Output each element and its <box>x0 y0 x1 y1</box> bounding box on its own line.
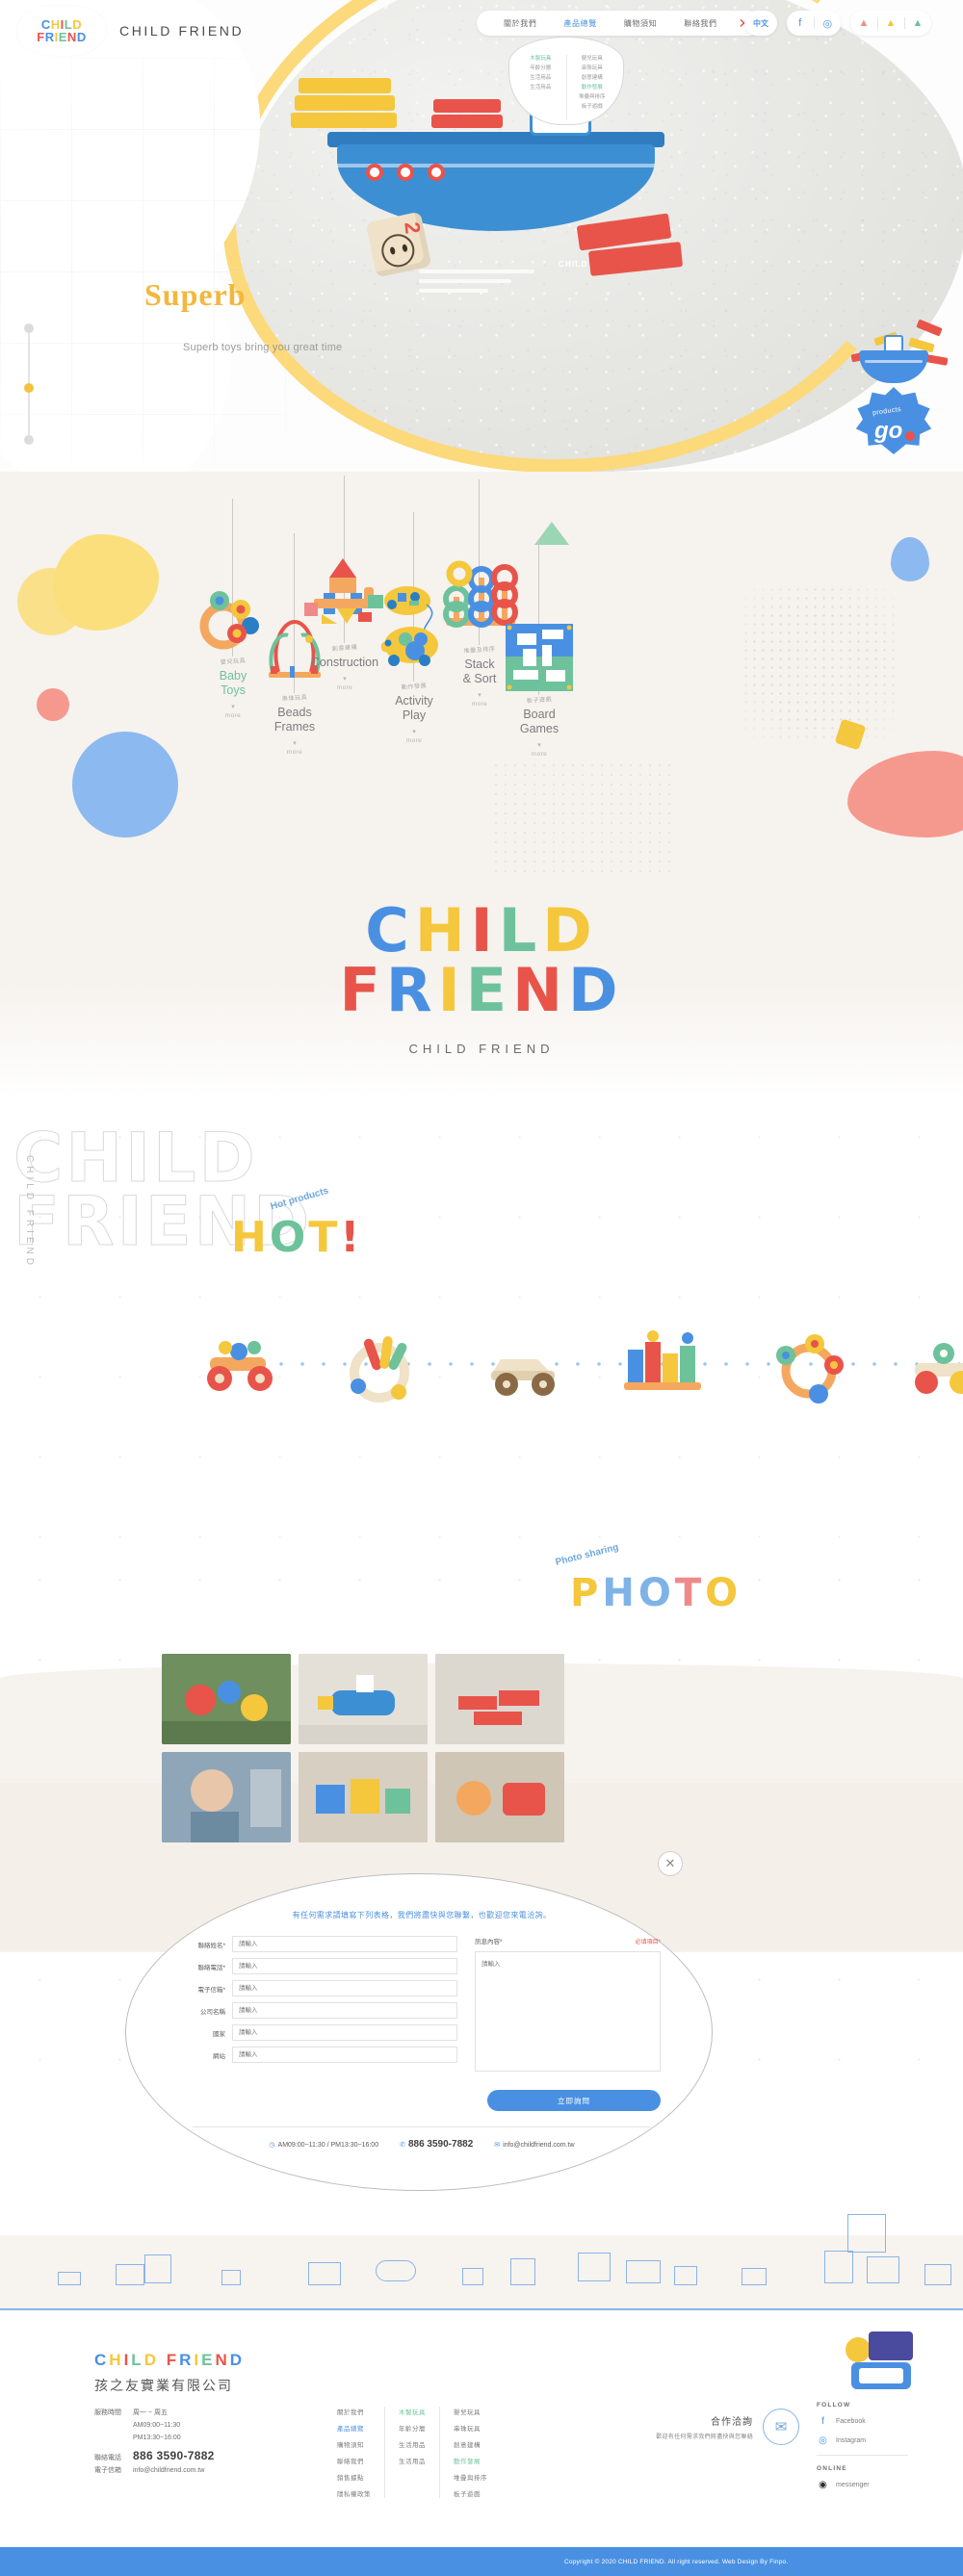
copyright-text: Copyright © 2020 CHILD FRIEND. All right… <box>564 2559 788 2565</box>
category-more-link[interactable]: more <box>237 749 352 756</box>
photo-title-letter: O <box>638 1571 675 1615</box>
category-more-link[interactable]: more <box>481 751 597 758</box>
scroll-dot-3[interactable] <box>24 435 34 445</box>
crate <box>299 78 391 93</box>
nav-item-1[interactable]: 產品總覽 <box>563 18 596 29</box>
service-days: 周一 ~ 周五 <box>133 2409 168 2416</box>
lock-icon: ▲ <box>905 17 931 29</box>
instagram-icon-row[interactable]: ◎Instagram <box>817 2434 932 2447</box>
logo-letter: F <box>37 31 44 43</box>
wordmark-letter: D <box>568 961 623 1020</box>
footer-link-site-2[interactable]: 購物須知 <box>337 2439 371 2449</box>
footer-email[interactable]: info@childfriend.com.tw <box>133 2467 204 2474</box>
coop-text: 歡迎有任何需求我們將盡快與您聯絡 <box>578 2432 753 2440</box>
wordmark-letter: N <box>512 961 568 1020</box>
footer-brand-letter: L <box>131 2351 143 2370</box>
message-label: 訊息內容* <box>475 1936 503 1945</box>
bead-roller[interactable] <box>905 1328 963 1425</box>
category-more-link[interactable]: more <box>356 737 472 744</box>
social-label: messenger <box>836 2482 870 2488</box>
contact-form: 有任何需求請填寫下列表格，我們將盡快與您聯繫，也歡迎您來電洽詢。 聯絡姓名* 聯… <box>143 1887 701 2150</box>
social-label: Instagram <box>836 2437 866 2444</box>
logo-mark[interactable]: CHILD FRIEND <box>17 6 106 56</box>
beaded-teether-ring[interactable] <box>335 1328 431 1425</box>
chevron-down-icon: ▾ <box>356 728 472 735</box>
photo-title-letter: O <box>705 1571 742 1615</box>
hot-title-letter: H <box>231 1213 270 1262</box>
footer-block-illustrations <box>0 2243 963 2310</box>
contact-message-block: 訊息內容* 必填項目* <box>475 1936 661 2076</box>
dropdown-cat-2[interactable]: 創意建構 <box>582 74 603 82</box>
main-nav: 關於我們產品總覽購物須知聯絡我們✕ <box>477 11 761 36</box>
website-input[interactable] <box>232 2047 457 2063</box>
footer-brand-letter: F <box>167 2351 179 2370</box>
decor-blue-circle <box>72 732 178 837</box>
hot-title-letter: ! <box>340 1213 362 1262</box>
footer-brand: CHILD FRIEND 孩之友實業有限公司 <box>94 2351 245 2395</box>
coop-title: 合作洽詢 <box>578 2413 753 2428</box>
boat-waves <box>419 270 534 293</box>
footer-link-cat-3[interactable]: 動作發展 <box>454 2456 487 2465</box>
photo-title: PHOTO <box>570 1571 742 1615</box>
decor-block-15 <box>924 2264 951 2285</box>
contact-info-bar: ◷AM09:00~11:30 / PM13:30~16:00 ✆886 3590… <box>143 2127 701 2150</box>
phone-text: 886 3590-7882 <box>408 2139 473 2150</box>
mail-icon[interactable]: ✉ <box>763 2409 799 2445</box>
badge-go-text: go <box>874 418 902 445</box>
brand-name: CHILD FRIEND <box>119 23 244 39</box>
message-textarea[interactable] <box>475 1951 661 2072</box>
wordmark-letter: D <box>542 901 597 961</box>
messenger-icon-row[interactable]: ◉messenger <box>817 2479 932 2491</box>
instagram-icon: ◎ <box>817 2434 829 2447</box>
photo-red-crates-sand[interactable] <box>435 1654 564 1744</box>
photo-title-letter: H <box>602 1571 638 1615</box>
logo-letter: E <box>59 31 67 43</box>
hero-section: CHILD FRIEND 2 Superb Superb toys bring … <box>0 0 963 472</box>
page-root: CHILD FRIEND 2 Superb Superb toys bring … <box>0 0 963 2576</box>
life-ring <box>428 164 445 181</box>
contact-email-input[interactable] <box>232 1980 457 1996</box>
footer-link-cat-4[interactable]: 堆疊與排序 <box>454 2472 487 2482</box>
facebook-icon-row[interactable]: fFacebook <box>817 2415 932 2428</box>
decor-block-9 <box>867 2256 899 2283</box>
footer-link-site-1[interactable]: 產品總覽 <box>337 2423 371 2433</box>
footer-phone[interactable]: 886 3590-7882 <box>133 2449 215 2462</box>
service-am: AM09:00~11:30 <box>133 2422 180 2429</box>
decor-block-10 <box>58 2272 81 2285</box>
phone-icon: ✆ <box>400 2142 405 2149</box>
decor-red-circle <box>37 688 69 721</box>
hot-title-letter: O <box>270 1213 308 1262</box>
decor-block-7 <box>847 2214 886 2253</box>
close-icon[interactable]: ✕ <box>658 1851 683 1876</box>
country-label: 國家 <box>183 2028 225 2038</box>
decor-block-2 <box>308 2262 341 2285</box>
dropdown-column-category: 嬰兒玩具串珠玩具創意建構動作發展堆疊與排序板子遊戲 <box>566 55 618 120</box>
footer-contact-block: 服務時間周一 ~ 周五 AM09:00~11:30 PM13:30~16:00 … <box>94 2407 215 2477</box>
nav-item-2[interactable]: 購物須知 <box>624 18 657 29</box>
wooden-toy-car[interactable] <box>478 1328 574 1425</box>
photo-child-playing[interactable] <box>162 1752 291 1842</box>
decor-block-1 <box>144 2254 171 2283</box>
logo-group[interactable]: CHILD FRIEND CHILD FRIEND <box>17 6 244 56</box>
facebook-icon: f <box>817 2415 829 2428</box>
category-label-en: BoardGames <box>481 708 597 736</box>
nav-item-0[interactable]: 關於我們 <box>504 18 536 29</box>
dropdown-type-1[interactable]: 年齡分層 <box>530 64 551 72</box>
hours-info: ◷AM09:00~11:30 / PM13:30~16:00 <box>269 2141 378 2149</box>
footer-brand-letter: D <box>144 2351 159 2370</box>
hero-dice: 2 <box>366 212 432 278</box>
crate <box>295 95 395 111</box>
crate <box>291 113 397 128</box>
decor-dot-pattern <box>742 585 896 739</box>
decor-green-triangle <box>534 522 569 545</box>
wooden-car-rattle[interactable] <box>193 1328 289 1425</box>
hours-text: AM09:00~11:30 / PM13:30~16:00 <box>278 2142 379 2149</box>
copyright-bar: Copyright © 2020 CHILD FRIEND. All right… <box>0 2547 963 2576</box>
wordmark-letter: I <box>438 961 466 1020</box>
photo-wooden-toys[interactable] <box>435 1752 564 1842</box>
decor-block-13 <box>510 2258 535 2285</box>
hot-products-rail <box>193 1319 963 1434</box>
dice-number: 2 <box>399 220 425 235</box>
dropdown-cat-1[interactable]: 串珠玩具 <box>582 64 603 72</box>
scroll-dot-2-active[interactable] <box>24 383 34 393</box>
online-links: ◉messenger <box>817 2479 932 2491</box>
footer-link-columns: 關於我們產品總覽購物須知聯絡我們銷售據點隱私權政策 木製玩具年齡分層生活用品生活… <box>324 2407 501 2498</box>
footer-brand-letter: D <box>230 2351 245 2370</box>
dropdown-type-0[interactable]: 木製玩具 <box>530 55 551 63</box>
country-input[interactable] <box>232 2024 457 2041</box>
nav-item-3[interactable]: 聯絡我們 <box>684 18 716 29</box>
footer-link-type-3[interactable]: 生活用品 <box>399 2456 426 2465</box>
photo-title-letter: T <box>675 1571 705 1615</box>
decor-block-4 <box>578 2253 611 2281</box>
life-ring <box>397 164 414 181</box>
website-label: 網站 <box>183 2050 225 2060</box>
stacking-blocks[interactable] <box>620 1328 716 1425</box>
submit-button[interactable]: 立即詢問 <box>487 2090 661 2111</box>
wordmark: CHILD FRIEND CHILD FRIEND <box>0 901 963 1056</box>
dropdown-cat-0[interactable]: 嬰兒玩具 <box>582 55 603 63</box>
footer-link-cat-0[interactable]: 嬰兒玩具 <box>454 2407 487 2416</box>
footer-link-type-2[interactable]: 生活用品 <box>399 2439 426 2449</box>
service-pm: PM13:30~16:00 <box>133 2434 181 2441</box>
photo-title-letter: P <box>570 1571 602 1615</box>
decor-block-6 <box>742 2268 767 2285</box>
dropdown-column-type: 木製玩具年齡分層生活用品生活用品 <box>515 55 566 120</box>
wordmark-line-2: FRIEND <box>0 961 963 1020</box>
dropdown-cat-3[interactable]: 動作發展 <box>582 84 603 91</box>
decor-block-11 <box>221 2270 241 2285</box>
hot-products-section: CHILDFRIEND CHILD FRIEND Hot products HO… <box>0 1097 963 1540</box>
email-info[interactable]: ✉info@childfriend.com.tw <box>494 2141 574 2149</box>
decor-pink-blob <box>847 751 963 837</box>
contact-name-label: 聯絡姓名* <box>183 1940 225 1949</box>
products-go-badge[interactable]: products go <box>846 323 953 454</box>
footer-brand-letter: R <box>179 2351 194 2370</box>
chevron-down-icon: ▾ <box>481 741 597 749</box>
footer-link-site-3[interactable]: 聯絡我們 <box>337 2456 371 2465</box>
follow-links: fFacebook◎Instagram <box>817 2415 932 2447</box>
category-toy-icon <box>481 616 597 693</box>
wordmark-letter: C <box>365 901 415 961</box>
logo-letter: N <box>67 31 77 43</box>
decor-block-14 <box>674 2266 697 2285</box>
contact-email-label: 電子信箱* <box>183 1984 225 1994</box>
badge-dot <box>905 431 915 441</box>
footer-link-cat-2[interactable]: 創意建構 <box>454 2439 487 2449</box>
badge-boat-cabin <box>884 335 903 352</box>
required-note: 必填項目* <box>636 1937 661 1945</box>
footer-link-cat-5[interactable]: 板子遊戲 <box>454 2488 487 2498</box>
crate <box>433 99 501 113</box>
footer-brand-letter: I <box>124 2351 132 2370</box>
hero-title: Superb <box>144 277 247 313</box>
hero-dot-grid <box>0 58 289 462</box>
decor-yellow-circle <box>17 568 85 635</box>
decor-dot-pattern-2 <box>491 760 674 876</box>
footer-link-type-1[interactable]: 年齡分層 <box>399 2423 426 2433</box>
category-item-1[interactable]: 串珠玩具 BeadsFrames ▾ more <box>237 693 352 756</box>
dice-face <box>378 231 417 270</box>
wordmark-line-1: CHILD <box>0 901 963 961</box>
contact-phone-label: 聯絡電話* <box>183 1962 225 1971</box>
chevron-down-icon: ▾ <box>237 739 352 747</box>
wordmark-letter: R <box>386 961 438 1020</box>
footer-column-site: 關於我們產品總覽購物須知聯絡我們銷售據點隱私權政策 <box>324 2407 384 2498</box>
dropdown-cat-5[interactable]: 板子遊戲 <box>582 103 603 111</box>
wordmark-letter: F <box>340 961 386 1020</box>
contact-name-input[interactable] <box>232 1936 457 1952</box>
divider <box>817 2455 908 2456</box>
wordmark-letter: H <box>415 901 471 961</box>
footer-brand-letter: N <box>215 2351 229 2370</box>
footer-column-category: 嬰兒玩具串珠玩具創意建構動作發展堆疊與排序板子遊戲 <box>439 2407 501 2498</box>
photo-grid <box>162 1654 566 1842</box>
service-label: 服務時間 <box>94 2407 133 2419</box>
footer-company-zh: 孩之友實業有限公司 <box>94 2376 245 2395</box>
badge-boat-icon <box>859 350 928 383</box>
footer-brand-letter <box>159 2351 167 2370</box>
ghost-vertical-text: CHILD FRIEND <box>24 1155 35 1269</box>
crate <box>431 115 503 128</box>
footer-social-block: FOLLOW fFacebook◎Instagram ONLINE ◉messe… <box>817 2402 932 2498</box>
hot-title: HOT! <box>231 1213 362 1262</box>
wordmark-subtitle: CHILD FRIEND <box>0 1042 963 1056</box>
life-ring <box>366 164 383 181</box>
category-section: 嬰兒玩具 BabyToys ▾ more 串珠玩具 BeadsFrames ▾ … <box>0 472 963 876</box>
header-user-group: ▲ ▲ ▲ <box>850 11 931 36</box>
footer-brand-letter: E <box>201 2351 215 2370</box>
wordmark-letter: I <box>471 901 499 961</box>
contact-form-note: 有任何需求請填寫下列表格，我們將盡快與您聯繫，也歡迎您來電洽詢。 <box>143 1887 701 1936</box>
cart-icon: ▲ <box>851 17 877 29</box>
brand-wordmark-section: CHILD FRIEND CHILD FRIEND <box>0 876 963 1097</box>
ring-rattle[interactable] <box>763 1328 859 1425</box>
instagram-icon[interactable]: ◎ <box>815 17 842 30</box>
header-social-group: f ◎ <box>787 11 841 36</box>
footer-column-type: 木製玩具年齡分層生活用品生活用品 <box>384 2407 439 2498</box>
mail-icon: ✉ <box>494 2142 500 2149</box>
facebook-icon[interactable]: f <box>787 17 814 29</box>
footer-cooperation-block[interactable]: 合作洽詢 歡迎有任何需求我們將盡快與您聯絡 ✉ <box>578 2409 799 2445</box>
follow-label: FOLLOW <box>817 2402 932 2409</box>
email-label: 電子信箱 <box>94 2464 133 2477</box>
logo-letter: D <box>77 31 87 43</box>
logo-letters-bottom: FRIEND <box>37 31 86 43</box>
company-name-input[interactable] <box>232 2002 457 2019</box>
dropdown-cat-4[interactable]: 堆疊與排序 <box>579 93 606 101</box>
hot-title-letter: T <box>308 1213 340 1262</box>
site-header: CHILD FRIEND CHILD FRIEND 關於我們產品總覽購物須知聯絡… <box>0 0 963 60</box>
wordmark-letter: L <box>499 901 543 961</box>
phone-label: 聯絡電話 <box>94 2452 133 2464</box>
photo-hand-blocks[interactable] <box>299 1752 428 1842</box>
contact-phone-input[interactable] <box>232 1958 457 1974</box>
language-switcher[interactable]: 中文 <box>744 11 777 36</box>
photo-beads-on-grass[interactable] <box>162 1654 291 1744</box>
products-dropdown-menu: 木製玩具年齡分層生活用品生活用品 嬰兒玩具串珠玩具創意建構動作發展堆疊與排序板子… <box>508 37 624 125</box>
decor-block-8 <box>824 2251 853 2283</box>
decor-block-0 <box>116 2264 144 2285</box>
company-name-label: 公司名稱 <box>183 2006 225 2016</box>
clock-icon: ◷ <box>269 2142 274 2149</box>
footer-link-type-0[interactable]: 木製玩具 <box>399 2407 426 2416</box>
footer-link-site-0[interactable]: 關於我們 <box>337 2407 371 2416</box>
decor-block-3 <box>376 2260 416 2281</box>
email-text: info@childfriend.com.tw <box>503 2142 574 2149</box>
scroll-dot-1[interactable] <box>24 323 34 333</box>
dropdown-type-2[interactable]: 生活用品 <box>530 74 551 82</box>
photo-boat-toy-sand[interactable] <box>299 1654 428 1744</box>
footer-link-cat-1[interactable]: 串珠玩具 <box>454 2423 487 2433</box>
logo-letter: R <box>45 31 55 43</box>
decor-blue-shape <box>891 537 929 581</box>
category-item-5[interactable]: 板子遊戲 BoardGames ▾ more <box>481 695 597 758</box>
wordmark-letter: E <box>466 961 512 1020</box>
site-footer: CHILD FRIEND 孩之友實業有限公司 服務時間周一 ~ 周五 AM09:… <box>0 2310 963 2547</box>
decor-block-5 <box>626 2260 661 2283</box>
footer-link-site-4[interactable]: 銷售據點 <box>337 2472 371 2482</box>
footer-brand-letter: C <box>94 2351 109 2370</box>
footer-brand-letter: I <box>194 2351 201 2370</box>
footer-mascot <box>846 2331 917 2391</box>
messenger-icon: ◉ <box>817 2479 829 2491</box>
online-label: ONLINE <box>817 2465 932 2472</box>
footer-brand-letter: H <box>109 2351 123 2370</box>
member-icon: ▲ <box>878 17 904 29</box>
phone-info[interactable]: ✆886 3590-7882 <box>400 2139 473 2150</box>
category-label-en: BeadsFrames <box>237 706 352 734</box>
footer-brand-letters: CHILD FRIEND <box>94 2351 245 2370</box>
footer-link-site-5[interactable]: 隱私權政策 <box>337 2488 371 2498</box>
hero-subtitle: Superb toys bring you great time <box>183 342 342 353</box>
dropdown-type-3[interactable]: 生活用品 <box>530 84 551 91</box>
contact-form-fields: 聯絡姓名* 聯絡電話* 電子信箱* 公司名稱 國家 網站 <box>183 1936 457 2076</box>
social-label: Facebook <box>836 2418 866 2425</box>
decor-block-12 <box>462 2268 483 2285</box>
